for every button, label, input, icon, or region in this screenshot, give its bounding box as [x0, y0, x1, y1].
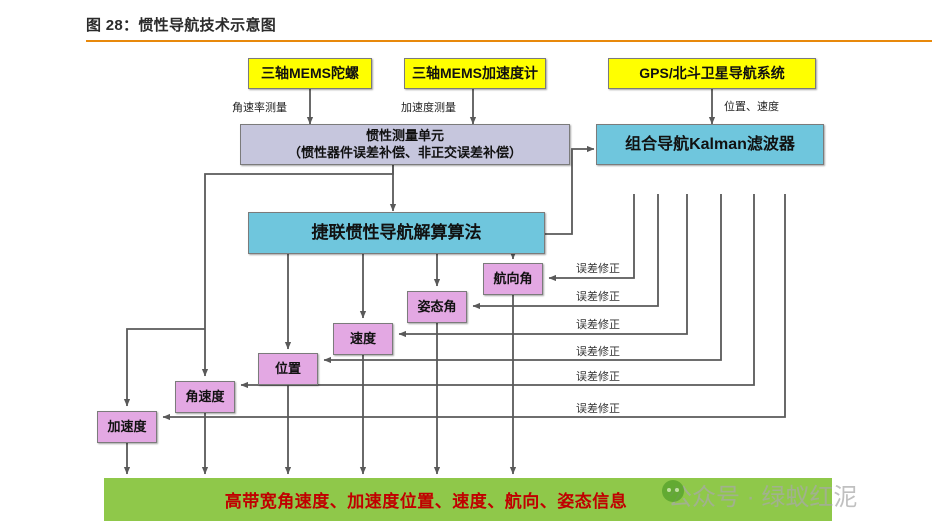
edge-label-correction-6: 误差修正	[573, 400, 623, 416]
node-imu-subtitle: （惯性器件误差补偿、非正交误差补偿）	[288, 145, 522, 161]
node-gyroscope[interactable]: 三轴MEMS陀螺	[248, 58, 372, 89]
node-gnss[interactable]: GPS/北斗卫星导航系统	[608, 58, 816, 89]
node-sins-algorithm-label: 捷联惯性导航解算算法	[312, 222, 482, 243]
node-heading-angle[interactable]: 航向角	[483, 263, 543, 295]
node-acceleration[interactable]: 加速度	[97, 411, 157, 443]
node-attitude-angle[interactable]: 姿态角	[407, 291, 467, 323]
node-accelerometer-label: 三轴MEMS加速度计	[412, 65, 538, 83]
page-title: 图 28：惯性导航技术示意图	[86, 14, 276, 35]
node-gyroscope-label: 三轴MEMS陀螺	[261, 65, 359, 83]
connector-layer	[0, 44, 932, 531]
node-accelerometer[interactable]: 三轴MEMS加速度计	[404, 58, 546, 89]
edge-label-correction-5: 误差修正	[573, 368, 623, 384]
node-kalman-filter-label: 组合导航Kalman滤波器	[625, 135, 795, 155]
node-sins-algorithm[interactable]: 捷联惯性导航解算算法	[248, 212, 545, 254]
edge-label-gnss-output: 位置、速度	[722, 98, 781, 114]
node-velocity-label: 速度	[350, 331, 376, 347]
edge-label-accel-output: 加速度测量	[399, 99, 458, 115]
diagram-canvas: 三轴MEMS陀螺 三轴MEMS加速度计 GPS/北斗卫星导航系统 角速率测量 加…	[0, 44, 932, 531]
node-position[interactable]: 位置	[258, 353, 318, 385]
edge-label-correction-3: 误差修正	[573, 316, 623, 332]
edge-label-gyro-output: 角速率测量	[230, 99, 289, 115]
edge-label-correction-4: 误差修正	[573, 343, 623, 359]
edge-label-correction-1: 误差修正	[573, 260, 623, 276]
node-angular-rate-label: 角速度	[185, 389, 224, 405]
output-banner-text: 高带宽角速度、加速度位置、速度、航向、姿态信息	[225, 487, 628, 512]
title-divider	[86, 40, 932, 42]
edge-label-correction-2: 误差修正	[573, 288, 623, 304]
node-heading-angle-label: 航向角	[493, 271, 532, 287]
node-imu-title: 惯性测量单元	[366, 128, 444, 144]
node-gnss-label: GPS/北斗卫星导航系统	[639, 65, 784, 83]
node-acceleration-label: 加速度	[107, 419, 146, 435]
smiley-icon	[662, 480, 684, 502]
node-kalman-filter[interactable]: 组合导航Kalman滤波器	[596, 124, 824, 165]
node-velocity[interactable]: 速度	[333, 323, 393, 355]
output-banner: 高带宽角速度、加速度位置、速度、航向、姿态信息	[104, 478, 832, 521]
node-position-label: 位置	[275, 361, 301, 377]
node-attitude-angle-label: 姿态角	[417, 299, 456, 315]
node-angular-rate[interactable]: 角速度	[175, 381, 235, 413]
node-imu[interactable]: 惯性测量单元 （惯性器件误差补偿、非正交误差补偿）	[240, 124, 570, 165]
